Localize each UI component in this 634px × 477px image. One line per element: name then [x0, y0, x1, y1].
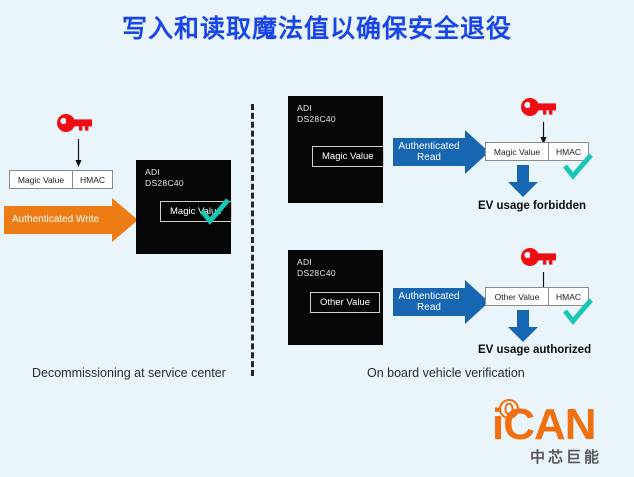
- arrow-label: Authenticated Read: [398, 291, 459, 314]
- arrow-label: Authenticated Write: [12, 214, 99, 226]
- authenticated-write-arrow: Authenticated Write: [4, 198, 138, 242]
- arrow-head-icon: [112, 198, 138, 242]
- arrow-shaft: Authenticated Read: [393, 138, 465, 166]
- chip-vendor: ADI: [145, 167, 160, 178]
- chip-vendor: ADI: [297, 103, 312, 114]
- slide-canvas: 写入和读取魔法值以确保安全退役 Magic Value HMAC Authent…: [0, 0, 634, 477]
- caption-right: On board vehicle verification: [367, 366, 525, 380]
- page-title: 写入和读取魔法值以确保安全退役: [0, 14, 634, 44]
- authenticated-read-arrow-bottom: Authenticated Read: [393, 280, 489, 324]
- chip-part: DS28C40: [297, 114, 336, 125]
- chip-stored-value: Magic Value: [312, 146, 384, 167]
- arrow-label: Authenticated Read: [398, 141, 459, 164]
- chip-card-top: ADI DS28C40 Magic Value: [288, 96, 383, 203]
- logo-chinese-name: 中芯巨能: [530, 449, 602, 467]
- verdict-bottom: EV usage authorized: [478, 344, 591, 356]
- packet-value: Other Value: [486, 288, 548, 305]
- key-icon: [57, 113, 93, 138]
- key-icon: [521, 247, 557, 272]
- down-connector-icon: [74, 139, 83, 172]
- authenticated-read-arrow-top: Authenticated Read: [393, 130, 489, 174]
- verdict-top: EV usage forbidden: [478, 200, 586, 212]
- key-icon: [521, 97, 557, 122]
- check-icon: [563, 298, 593, 331]
- packet-value: Magic Value: [10, 171, 72, 188]
- down-arrow-icon: [506, 165, 540, 202]
- chip-vendor: ADI: [297, 257, 312, 268]
- down-arrow-icon: [506, 310, 540, 347]
- caption-left: Decommissioning at service center: [32, 366, 226, 380]
- logo-dot-icon: [498, 398, 520, 420]
- packet-hmac: HMAC: [72, 171, 112, 188]
- check-icon: [563, 153, 593, 186]
- chip-card-bottom: ADI DS28C40 Other Value: [288, 250, 383, 345]
- arrow-shaft: Authenticated Write: [4, 206, 112, 234]
- check-icon: [200, 198, 230, 231]
- arrow-shaft: Authenticated Read: [393, 288, 465, 316]
- data-packet-left: Magic Value HMAC: [9, 170, 113, 189]
- chip-part: DS28C40: [297, 268, 336, 279]
- section-divider: [251, 104, 254, 376]
- chip-part: DS28C40: [145, 178, 184, 189]
- chip-stored-value: Other Value: [310, 292, 380, 313]
- packet-value: Magic Value: [486, 143, 548, 160]
- brand-logo: iCAN 中芯巨能: [492, 400, 628, 472]
